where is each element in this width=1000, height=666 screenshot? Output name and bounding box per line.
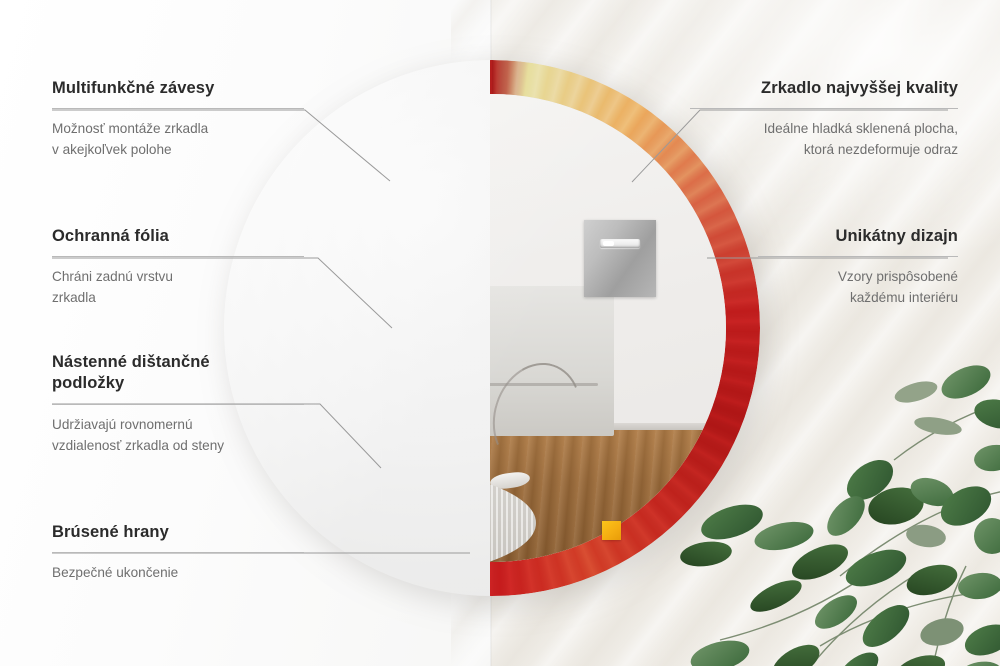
- wall-hanger-bracket: [584, 220, 656, 297]
- callout-body: Udržiavajú rovnomernú vzdialenosť zrkadl…: [52, 415, 304, 456]
- foliage-branches-icon: [680, 340, 1000, 666]
- callout-rule: [52, 108, 304, 109]
- callout-brusene-hrany: Brúsené hrany Bezpečné ukončenie: [52, 522, 304, 584]
- callout-body: Chráni zadnú vrstvu zrkadla: [52, 267, 304, 308]
- callout-nastenne-distancne-podlozky: Nástenné dištančné podložky Udržiavajú r…: [52, 352, 304, 456]
- callout-body: Možnosť montáže zrkadla v akejkoľvek pol…: [52, 119, 304, 160]
- decorative-foliage: [680, 340, 1000, 666]
- callout-rule: [52, 256, 304, 257]
- callout-rule: [52, 404, 304, 405]
- callout-rule: [758, 256, 958, 257]
- hanger-slot: [600, 239, 640, 248]
- callout-title: Unikátny dizajn: [758, 226, 958, 247]
- callout-title: Nástenné dištančné podložky: [52, 352, 304, 395]
- callout-title: Multifunkčné závesy: [52, 78, 304, 99]
- infographic-stage: Multifunkčné závesy Možnosť montáže zrka…: [0, 0, 1000, 666]
- callout-body: Vzory prispôsobené každému interiéru: [758, 267, 958, 308]
- callout-multifunkcne-zavesy: Multifunkčné závesy Možnosť montáže zrka…: [52, 78, 304, 161]
- wall-spacer-pad: [602, 521, 621, 540]
- callout-body: Ideálne hladká sklenená plocha, ktorá ne…: [690, 119, 958, 160]
- callout-zrkadlo-najvyssej-kvality: Zrkadlo najvyššej kvality Ideálne hladká…: [690, 78, 958, 161]
- callout-title: Brúsené hrany: [52, 522, 304, 543]
- callout-ochranna-folia: Ochranná fólia Chráni zadnú vrstvu zrkad…: [52, 226, 304, 309]
- callout-body: Bezpečné ukončenie: [52, 563, 304, 584]
- callout-rule: [52, 552, 304, 553]
- callout-title: Ochranná fólia: [52, 226, 304, 247]
- callout-rule: [690, 108, 958, 109]
- callout-title: Zrkadlo najvyššej kvality: [690, 78, 958, 99]
- callout-unikatny-dizajn: Unikátny dizajn Vzory prispôsobené každé…: [758, 226, 958, 309]
